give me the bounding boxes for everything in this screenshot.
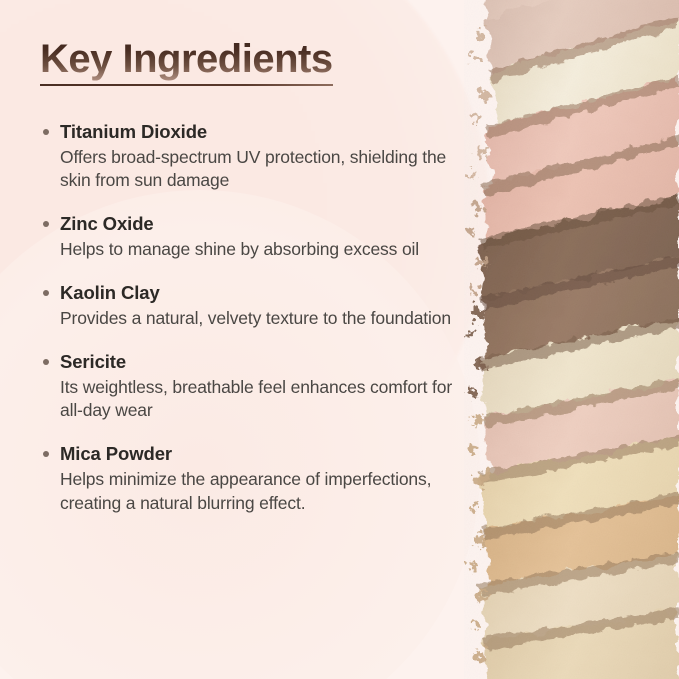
dot-bullet-icon — [43, 359, 49, 365]
crushed-powder-swatches-image — [464, 0, 679, 679]
ingredient-description: Helps minimize the appearance of imperfe… — [60, 468, 452, 514]
list-item: Zinc Oxide Helps to manage shine by abso… — [40, 212, 470, 261]
ingredient-name: Sericite — [60, 350, 470, 375]
ingredients-list: Titanium Dioxide Offers broad-spectrum U… — [40, 120, 470, 515]
dot-bullet-icon — [43, 221, 49, 227]
ingredient-description: Its weightless, breathable feel enhances… — [60, 376, 452, 422]
list-item: Mica Powder Helps minimize the appearanc… — [40, 442, 470, 514]
ingredient-name: Zinc Oxide — [60, 212, 470, 237]
page-title-group: Key Ingredients — [40, 38, 333, 86]
list-item: Kaolin Clay Provides a natural, velvety … — [40, 281, 470, 330]
ingredient-description: Provides a natural, velvety texture to t… — [60, 307, 452, 330]
ingredient-name: Kaolin Clay — [60, 281, 470, 306]
dot-bullet-icon — [43, 129, 49, 135]
ingredient-description: Offers broad-spectrum UV protection, shi… — [60, 146, 452, 192]
list-item: Sericite Its weightless, breathable feel… — [40, 350, 470, 422]
page-title: Key Ingredients — [40, 38, 333, 83]
ingredients-infographic: Key Ingredients Titanium Dioxide Offers … — [0, 0, 679, 679]
dot-bullet-icon — [43, 290, 49, 296]
title-underline — [40, 84, 333, 86]
dot-bullet-icon — [43, 451, 49, 457]
ingredient-description: Helps to manage shine by absorbing exces… — [60, 238, 452, 261]
content-column: Key Ingredients Titanium Dioxide Offers … — [0, 0, 470, 679]
ingredient-name: Mica Powder — [60, 442, 470, 467]
list-item: Titanium Dioxide Offers broad-spectrum U… — [40, 120, 470, 192]
ingredient-name: Titanium Dioxide — [60, 120, 470, 145]
